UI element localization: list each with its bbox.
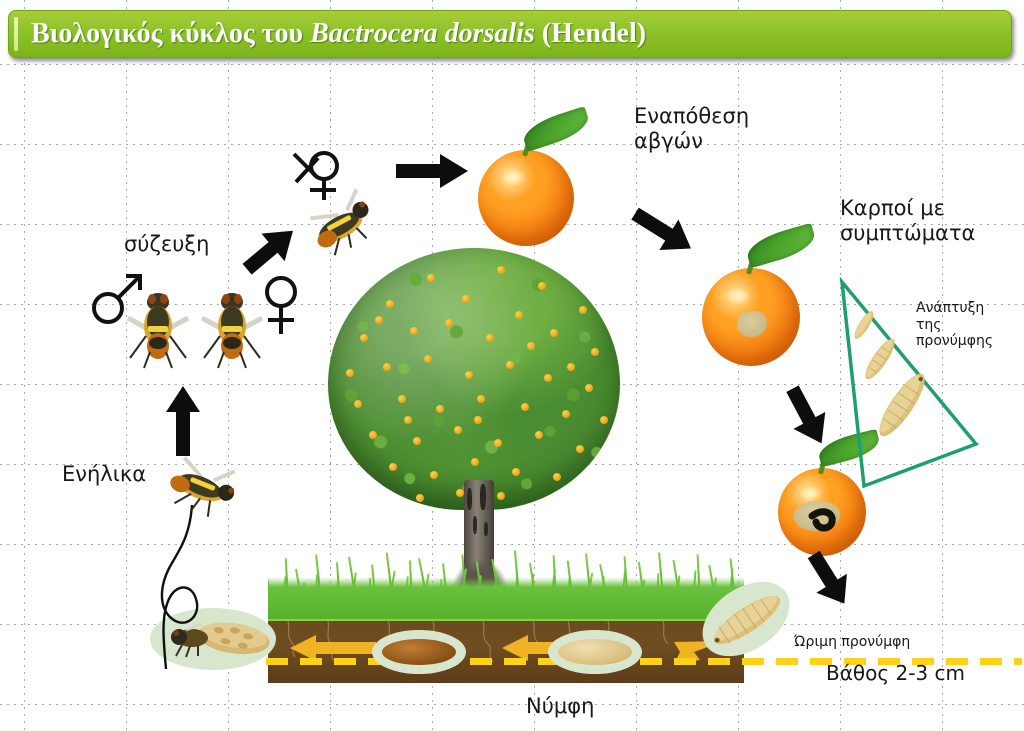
title-suffix: (Hendel) [535,18,646,49]
healthy-orange [478,150,574,246]
citrus-tree [320,248,622,593]
orange-highlight [726,288,751,305]
orange-leaf [520,106,593,152]
page-title: Βιολογικός κύκλος του Bactrocera dorsali… [31,18,646,50]
orange-damage-spot [737,311,766,336]
title-prefix: Βιολογικός κύκλος του [31,18,310,49]
pupa-2 [382,639,456,665]
orange-leaf [744,223,819,268]
label-mature-larva: Ώριμη προνύμφη [794,634,910,651]
arrow-to-egg-deposition [396,152,468,190]
grass-layer [268,560,744,622]
label-larval-development: Ανάπτυξη της προνύμφης [916,300,993,350]
label-mating: σύζευξη [124,232,209,257]
orange-body [478,150,574,246]
orange-highlight [501,169,526,185]
slide-canvas: Βιολογικός κύκλος του Bactrocera dorsali… [0,0,1024,731]
label-egg-deposition: Εναπόθεση αβγών [634,104,749,154]
arrow-adults-to-mating [166,386,200,456]
title-species-name: Bactrocera dorsalis [310,18,535,49]
label-pupa: Νύμφη [526,694,594,719]
label-depth: Βάθος 2-3 cm [826,662,965,686]
label-fruits-with-symptoms: Καρποί με συμπτώματα [840,196,975,246]
label-adults: Ενήλικα [62,462,146,487]
tree-fruits [328,248,620,510]
slide-title-bar: Βιολογικός κύκλος του Bactrocera dorsali… [8,10,1012,58]
emergence-path-arrow [150,505,240,670]
symptomatic-orange [702,268,800,366]
arrow-to-symptomatic-fruit [621,191,706,272]
male-symbol [86,270,146,328]
pupa-1 [558,639,632,665]
mated-female-symbol [288,148,344,204]
